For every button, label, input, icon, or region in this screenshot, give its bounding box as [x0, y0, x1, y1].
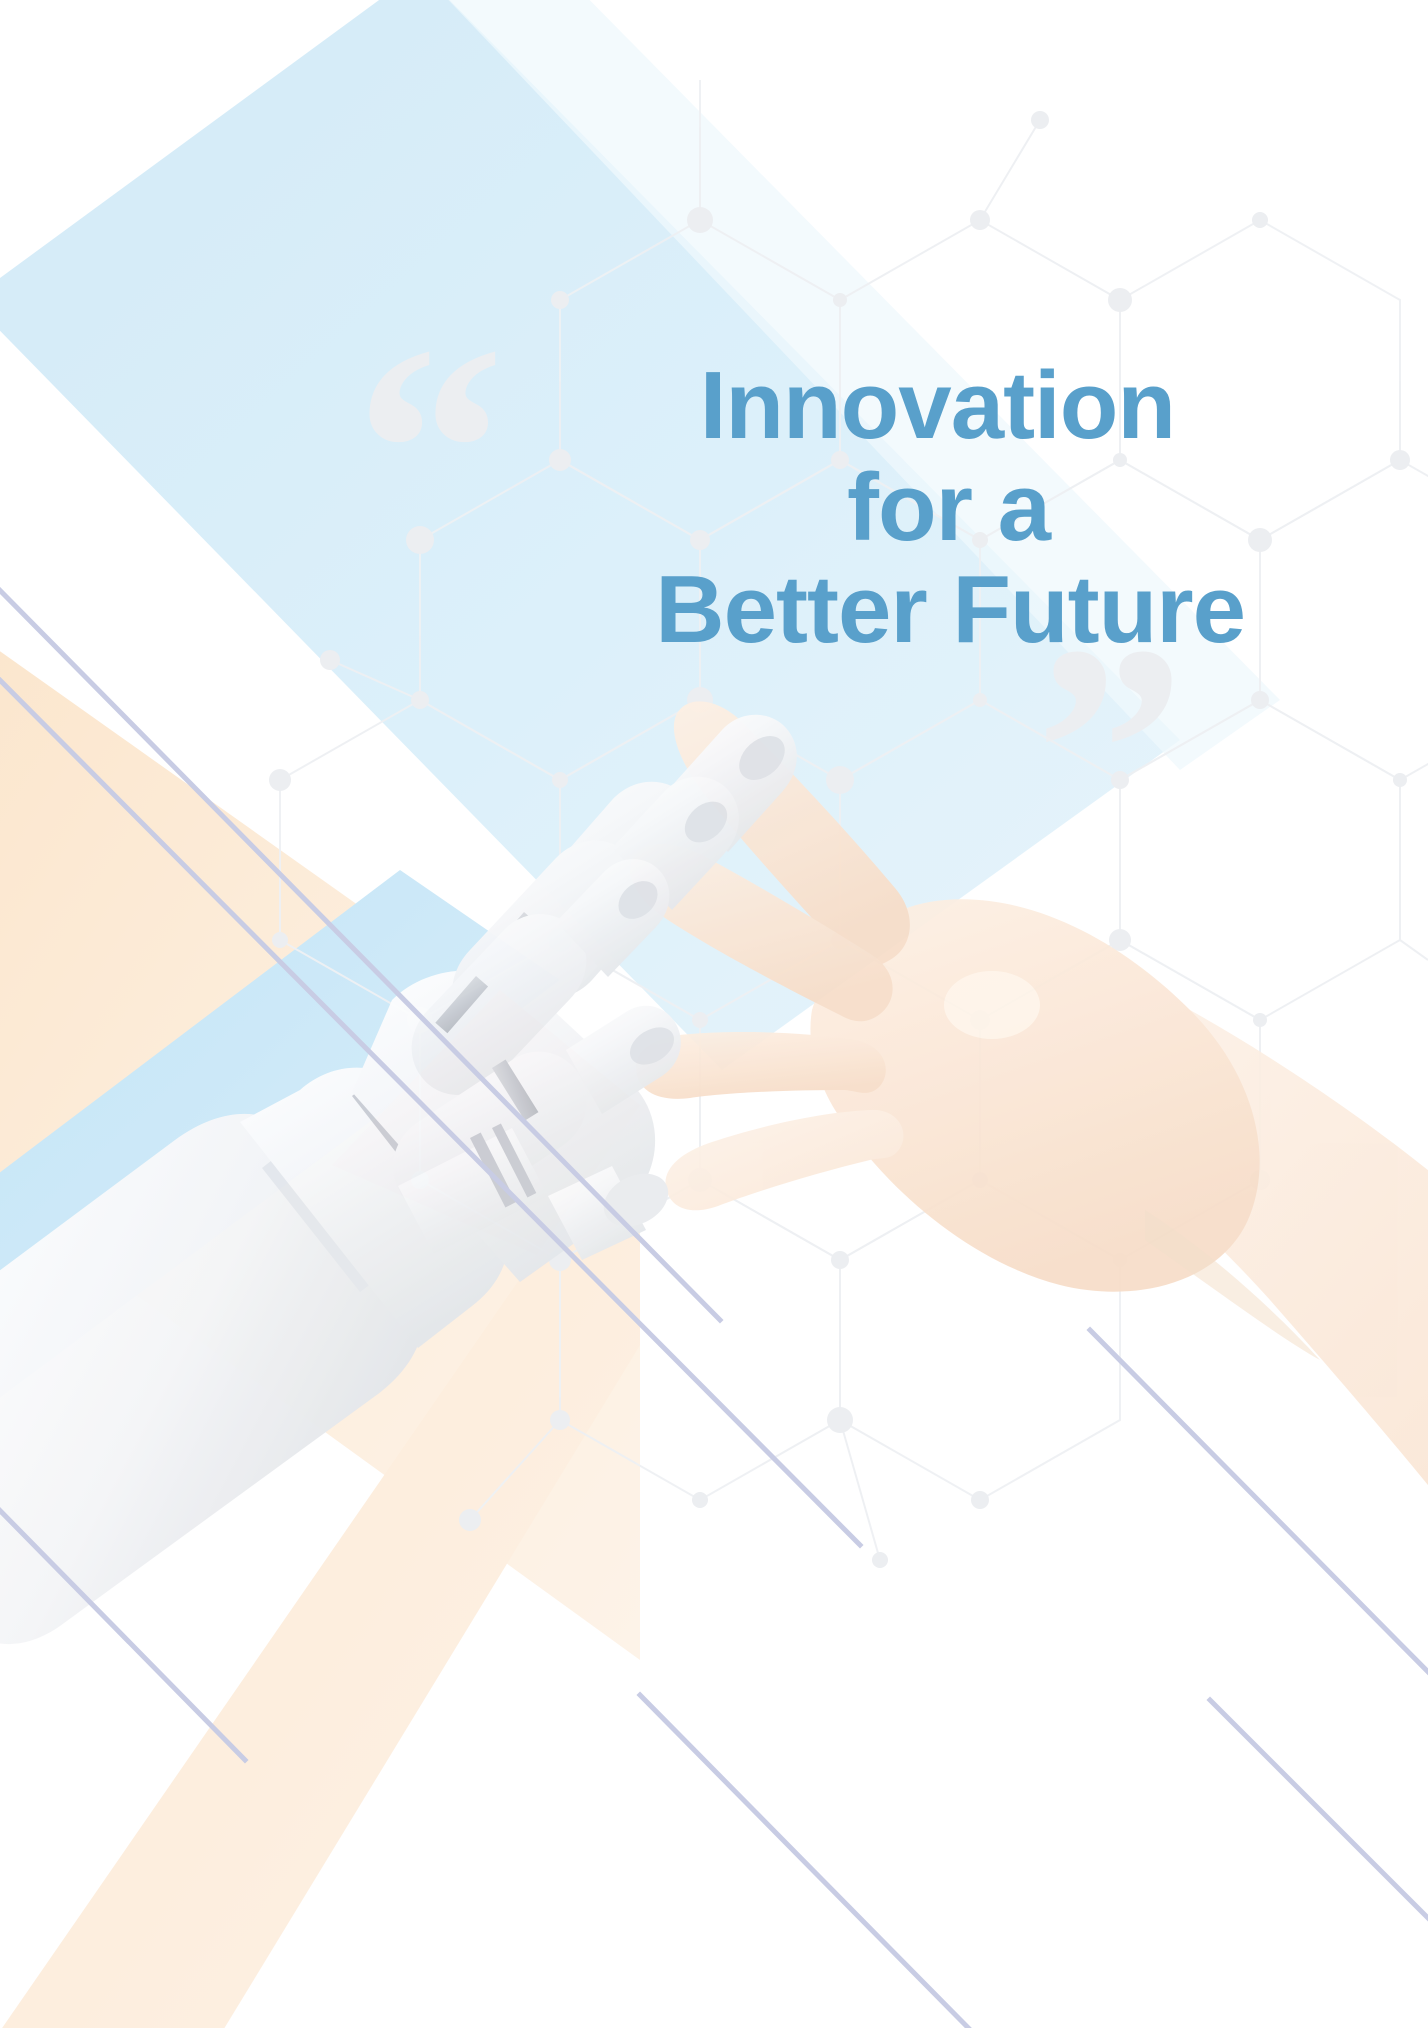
human-middle-finger [630, 844, 893, 1021]
hands-illustration-group [0, 0, 1428, 2028]
page-title: Innovation for a Better Future [0, 355, 1290, 661]
robot-fingertips [611, 727, 793, 1072]
lavender-rule-2 [0, 650, 860, 1545]
title-line-1: Innovation [0, 355, 1290, 457]
robot-wrist-joint [240, 1068, 509, 1348]
human-palm [810, 899, 1259, 1291]
band-salmon-accent [332, 990, 640, 1300]
robot-palm [352, 970, 655, 1282]
human-forearm [1000, 992, 1428, 1500]
robot-forearm [0, 1114, 423, 1644]
human-ring-finger [636, 1032, 886, 1099]
band-peach-left [0, 630, 640, 1660]
robot-thumb [393, 1006, 681, 1217]
robot-finger-3 [412, 859, 670, 1095]
cover-page: “ ” [0, 0, 1428, 2028]
lavender-rule-3 [0, 1480, 245, 1760]
band-blue-lower [0, 870, 560, 1420]
robot-cuff-ring [262, 1138, 400, 1292]
human-knuckle-highlight [944, 971, 1040, 1039]
lavender-rule-1 [0, 560, 720, 1320]
lavender-rule-6 [1090, 1330, 1428, 1684]
lavender-rule-5 [1210, 1700, 1428, 1930]
title-line-2: for a [0, 457, 1290, 559]
human-wrist-shadow [1145, 1210, 1320, 1360]
band-peach-lower [0, 1105, 640, 2028]
lavender-rule-lines-group [0, 0, 1428, 2028]
lavender-rule-4 [640, 1695, 995, 2028]
robot-finger-2 [452, 777, 739, 1044]
robot-wrist-bands [352, 1074, 478, 1214]
title-line-3: Better Future [0, 559, 1290, 661]
diagonal-bands-group [0, 0, 1428, 2028]
robotic-hand [0, 715, 797, 1644]
human-little-finger [665, 1110, 903, 1210]
human-hand [630, 701, 1428, 1500]
hexagon-network-pattern [0, 0, 1428, 2028]
robot-secondary-arm [398, 1123, 677, 1260]
human-index-finger [674, 701, 910, 967]
robot-finger-1 [502, 715, 797, 999]
